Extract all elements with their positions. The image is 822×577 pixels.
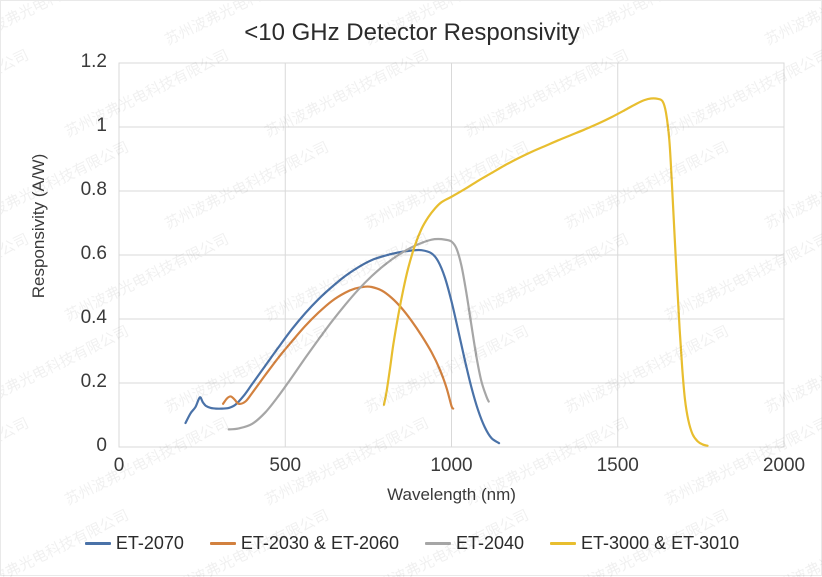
- x-tick-label: 2000: [744, 455, 822, 477]
- y-tick-label: 0.8: [47, 179, 107, 201]
- chart-container: <10 GHz Detector Responsivity 00.20.40.6…: [0, 0, 822, 576]
- y-tick-label: 1: [47, 115, 107, 137]
- legend-label: ET-2030 & ET-2060: [241, 533, 399, 554]
- chart-legend: ET-2070ET-2030 & ET-2060ET-2040ET-3000 &…: [1, 533, 822, 554]
- x-tick-label: 1000: [412, 455, 492, 477]
- legend-item[interactable]: ET-2040: [425, 533, 524, 554]
- legend-swatch-icon: [210, 542, 236, 545]
- legend-swatch-icon: [550, 542, 576, 545]
- y-tick-label: 0.6: [47, 243, 107, 265]
- y-tick-label: 0: [47, 435, 107, 457]
- legend-item[interactable]: ET-2070: [85, 533, 184, 554]
- legend-label: ET-2040: [456, 533, 524, 554]
- legend-item[interactable]: ET-2030 & ET-2060: [210, 533, 399, 554]
- legend-item[interactable]: ET-3000 & ET-3010: [550, 533, 739, 554]
- x-tick-label: 0: [79, 455, 159, 477]
- x-tick-label: 1500: [578, 455, 658, 477]
- x-axis-title: Wavelength (nm): [119, 485, 784, 505]
- x-tick-label: 500: [245, 455, 325, 477]
- legend-swatch-icon: [85, 542, 111, 545]
- legend-swatch-icon: [425, 542, 451, 545]
- y-tick-label: 1.2: [47, 51, 107, 73]
- legend-label: ET-3000 & ET-3010: [581, 533, 739, 554]
- y-tick-label: 0.2: [47, 371, 107, 393]
- chart-title: <10 GHz Detector Responsivity: [1, 19, 822, 47]
- y-axis-title: Responsivity (A/W): [29, 126, 49, 326]
- legend-label: ET-2070: [116, 533, 184, 554]
- y-tick-label: 0.4: [47, 307, 107, 329]
